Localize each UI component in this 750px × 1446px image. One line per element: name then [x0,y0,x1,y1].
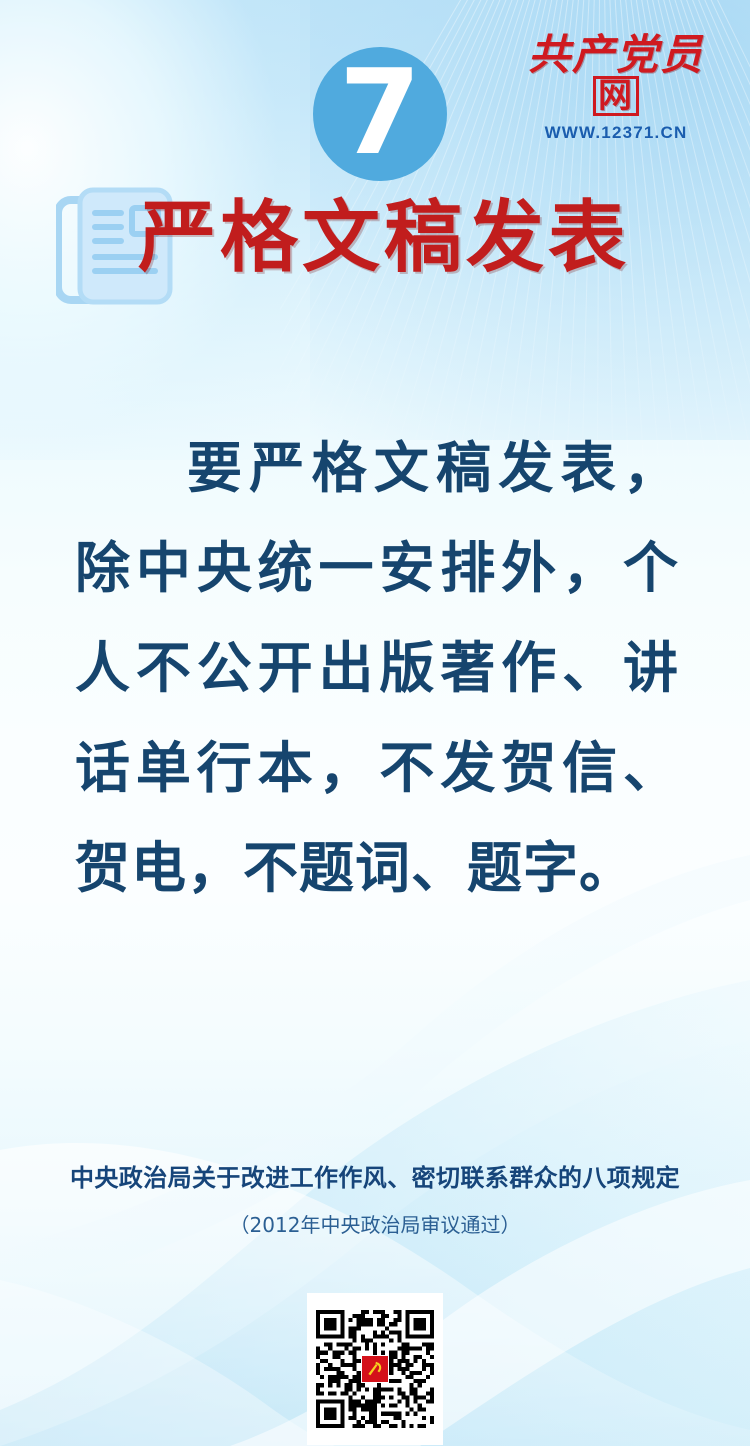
item-number-badge: 7 [313,47,447,181]
footer-regulation-subtitle: （2012年中央政治局审议通过） [0,1209,750,1238]
site-logo-mark: 共产党员网 [506,34,726,118]
qr-code-icon[interactable] [307,1293,443,1445]
body-paragraph: 要严格文稿发表，除中央统一安排外，个人不公开出版著作、讲话单行本，不发贺信、贺电… [75,418,679,918]
page-title: 严格文稿发表 [138,196,698,282]
site-logo-brand-suffix: 网 [593,76,639,116]
site-logo-brand: 共产党员 [528,30,704,79]
site-logo: 共产党员网 WWW.12371.CN [506,34,726,143]
hammer-sickle-glyph [365,1359,385,1379]
footer-regulation-title: 中央政治局关于改进工作作风、密切联系群众的八项规定 [0,1158,750,1193]
party-emblem-icon [362,1356,388,1382]
poster-root: 共产党员网 WWW.12371.CN 7 严格文稿发表 要严格文稿发表，除中央统… [0,0,750,1446]
site-logo-url: WWW.12371.CN [506,123,726,143]
item-number-value: 7 [339,53,421,171]
